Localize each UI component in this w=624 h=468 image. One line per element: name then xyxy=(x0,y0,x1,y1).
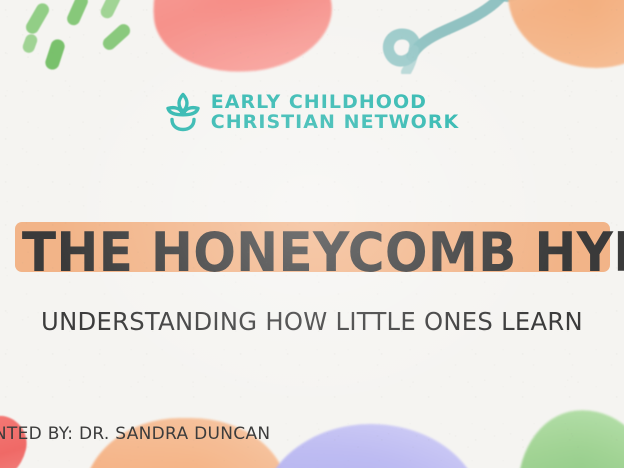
presenter-credit: PRESENTED BY: DR. SANDRA DUNCAN xyxy=(0,424,270,444)
brand-logo-lockup: EARLY CHILDHOOD CHRISTIAN NETWORK xyxy=(0,92,624,132)
brand-name: EARLY CHILDHOOD CHRISTIAN NETWORK xyxy=(211,92,460,132)
title-slide: EARLY CHILDHOOD CHRISTIAN NETWORK THE HO… xyxy=(0,0,624,468)
brand-name-line-2: CHRISTIAN NETWORK xyxy=(211,112,460,132)
slide-content: EARLY CHILDHOOD CHRISTIAN NETWORK THE HO… xyxy=(0,0,624,468)
brand-name-line-1: EARLY CHILDHOOD xyxy=(211,92,460,112)
slide-title: THE HONEYCOMB HYPOTHESIS xyxy=(22,222,602,284)
sprout-leaves-logo-icon xyxy=(165,92,201,132)
slide-subtitle: UNDERSTANDING HOW LITTLE ONES LEARN xyxy=(9,307,614,337)
